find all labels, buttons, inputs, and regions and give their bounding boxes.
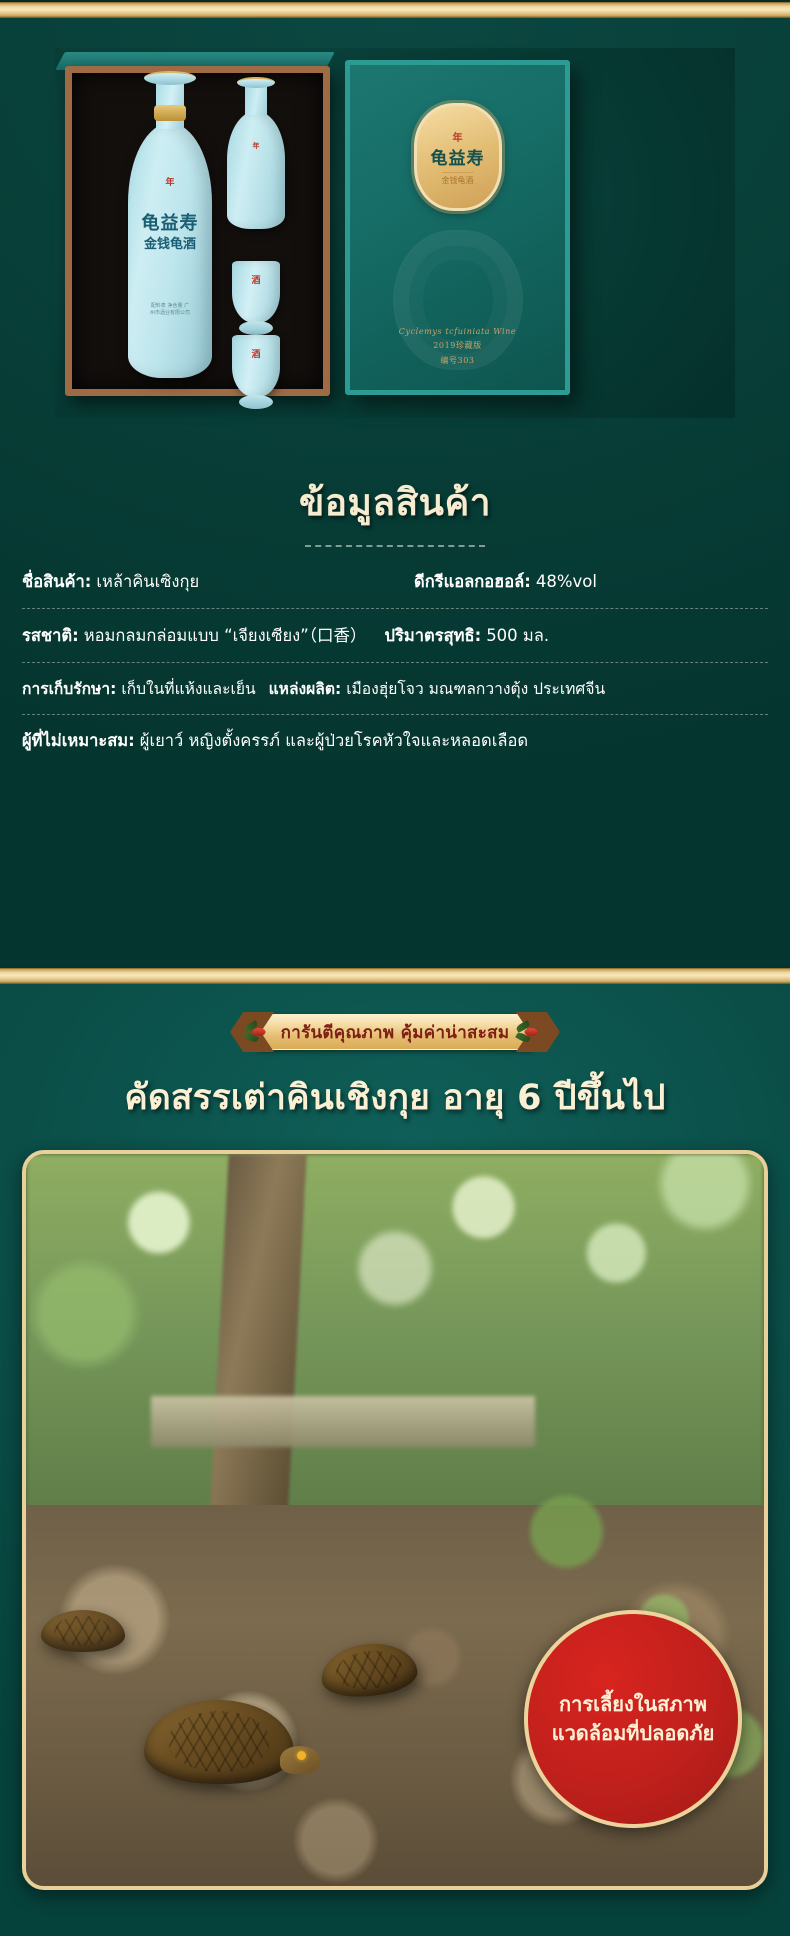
photo-wooden-plank [151, 1396, 535, 1447]
ceramic-cup: 酒 [232, 335, 280, 397]
small-bottle-neck [245, 85, 267, 115]
breeding-section: การันตีคุณภาพ คุ้มค่าน่าสะสม คัดสรรเต่าค… [0, 984, 790, 1936]
spec-cell-storage: การเก็บรักษา: เก็บในที่แห้งและเย็น [22, 676, 256, 701]
spec-label: การเก็บรักษา: [22, 676, 116, 701]
spec-value: ผู้เยาว์ หญิงตั้งครรภ์ และผู้ป่วยโรคหัวใ… [140, 728, 528, 754]
emblem-mark-label: 年 [453, 129, 463, 144]
berry-shape [525, 1028, 538, 1036]
quality-guarantee-ribbon: การันตีคุณภาพ คุ้มค่าน่าสะสม [230, 1012, 560, 1052]
small-bottle-mouth [237, 77, 275, 88]
cover-latin-script: Cyclemys tcfuiniata Wine [399, 327, 516, 336]
cup-mark-label: 酒 [251, 347, 260, 360]
bottle-mouth [144, 71, 196, 85]
ribbon-label: การันตีคุณภาพ คุ้มค่าน่าสะสม [281, 1019, 510, 1046]
emblem-sub-label: 金钱龟酒 [442, 172, 474, 186]
bottle-fineprint-label: 配料表 净含量 广州市酒业有限公司 [150, 303, 190, 316]
spec-label: แหล่งผลิต: [269, 676, 342, 701]
section-heading: คัดสรรเต่าคินเชิงกุย อายุ 6 ปีขึ้นไป [0, 1070, 790, 1125]
title-underline-divider [305, 545, 485, 547]
gift-box-tray: 年 龟益寿 金钱龟酒 配料表 净含量 广州市酒业有限公司 年 酒 酒 [65, 66, 330, 396]
product-spec-table: ชื่อสินค้า: เหล้าคินเซิงกุย ดีกรีแอลกอฮอ… [22, 556, 768, 767]
spec-label: ปริมาตรสุทธิ: [385, 623, 482, 649]
spec-cell-volume: ปริมาตรสุทธิ: 500 มล. [385, 623, 550, 649]
product-info-section: 年 龟益寿 金钱龟酒 配料表 净含量 广州市酒业有限公司 年 酒 酒 年 龟益寿 [0, 18, 790, 968]
spec-cell-not-suitable: ผู้ที่ไม่เหมาะสม: ผู้เยาว์ หญิงตั้งครรภ์… [22, 728, 528, 754]
gift-box-cover: 年 龟益寿 金钱龟酒 Cyclemys tcfuiniata Wine 2019… [345, 60, 570, 395]
emblem-brand-label: 龟益寿 [431, 144, 485, 169]
leaf-berry-ornament-icon [518, 1024, 544, 1040]
status-badge-label: การเลี้ยงในสภาพแวดล้อมที่ปลอดภัย [548, 1690, 718, 1748]
bottle-sub-label: 金钱龟酒 [144, 233, 196, 252]
status-badge: การเลี้ยงในสภาพแวดล้อมที่ปลอดภัย [524, 1610, 742, 1828]
brand-emblem: 年 龟益寿 金钱龟酒 [414, 103, 502, 211]
cover-edition-label: 2019珍藏版 [399, 340, 516, 351]
section-divider-gold-bar [0, 968, 790, 984]
cover-script-text: Cyclemys tcfuiniata Wine 2019珍藏版 编号303 [399, 327, 516, 366]
berry-shape [253, 1028, 266, 1036]
table-row: การเก็บรักษา: เก็บในที่แห้งและเย็น แหล่ง… [22, 662, 768, 714]
page-title: ข้อมูลสินค้า [0, 473, 790, 532]
leaf-berry-ornament-icon [246, 1024, 272, 1040]
bottle-gold-ring [154, 105, 186, 121]
turtle-head-shape [280, 1746, 320, 1774]
small-bottle-mark-label: 年 [253, 141, 260, 151]
spec-value: หอมกลมกล่อมแบบ “เจียงเซียง”（口香） [84, 622, 367, 649]
spec-cell-product-name: ชื่อสินค้า: เหล้าคินเซิงกุย [22, 569, 414, 595]
spec-cell-flavor: รสชาติ: หอมกลมกล่อมแบบ “เจียงเซียง”（口香） [22, 622, 367, 649]
turtle-eye-shape [297, 1751, 306, 1760]
large-liquor-bottle: 年 龟益寿 金钱龟酒 配料表 净含量 广州市酒业有限公司 [128, 123, 212, 378]
table-row: ผู้ที่ไม่เหมาะสม: ผู้เยาว์ หญิงตั้งครรภ์… [22, 714, 768, 767]
spec-label: ผู้ที่ไม่เหมาะสม: [22, 728, 135, 754]
table-row: ชื่อสินค้า: เหล้าคินเซิงกุย ดีกรีแอลกอฮอ… [22, 556, 768, 608]
bottle-brand-label: 龟益寿 [142, 209, 199, 235]
small-liquor-bottle: 年 [227, 111, 285, 229]
spec-value: เหล้าคินเซิงกุย [96, 569, 199, 595]
spec-label: ดีกรีแอลกอฮอล์: [414, 569, 531, 595]
turtle-habitat-image: การเลี้ยงในสภาพแวดล้อมที่ปลอดภัย [22, 1150, 768, 1890]
cover-serial-label: 编号303 [399, 355, 516, 366]
spec-value: 48%vol [536, 572, 597, 591]
product-gift-box-image: 年 龟益寿 金钱龟酒 配料表 净含量 广州市酒业有限公司 年 酒 酒 年 龟益寿 [55, 48, 735, 418]
spec-label: รสชาติ: [22, 623, 79, 649]
spec-label: ชื่อสินค้า: [22, 569, 91, 595]
table-row: รสชาติ: หอมกลมกล่อมแบบ “เจียงเซียง”（口香） … [22, 608, 768, 662]
bottle-mark-label: 年 [165, 175, 174, 188]
spec-value: เมืองฮุ่ยโจว มณฑลกวางตุ้ง ประเทศจีน [346, 676, 605, 701]
cup-mark-label: 酒 [251, 273, 260, 286]
spec-value: 500 มล. [486, 623, 549, 649]
ceramic-cup: 酒 [232, 261, 280, 323]
spec-value: เก็บในที่แห้งและเย็น [121, 676, 255, 701]
spec-cell-origin: แหล่งผลิต: เมืองฮุ่ยโจว มณฑลกวางตุ้ง ประ… [269, 676, 606, 701]
top-gold-border-bar [0, 2, 790, 18]
spec-cell-alcohol: ดีกรีแอลกอฮอล์: 48%vol [414, 569, 768, 595]
